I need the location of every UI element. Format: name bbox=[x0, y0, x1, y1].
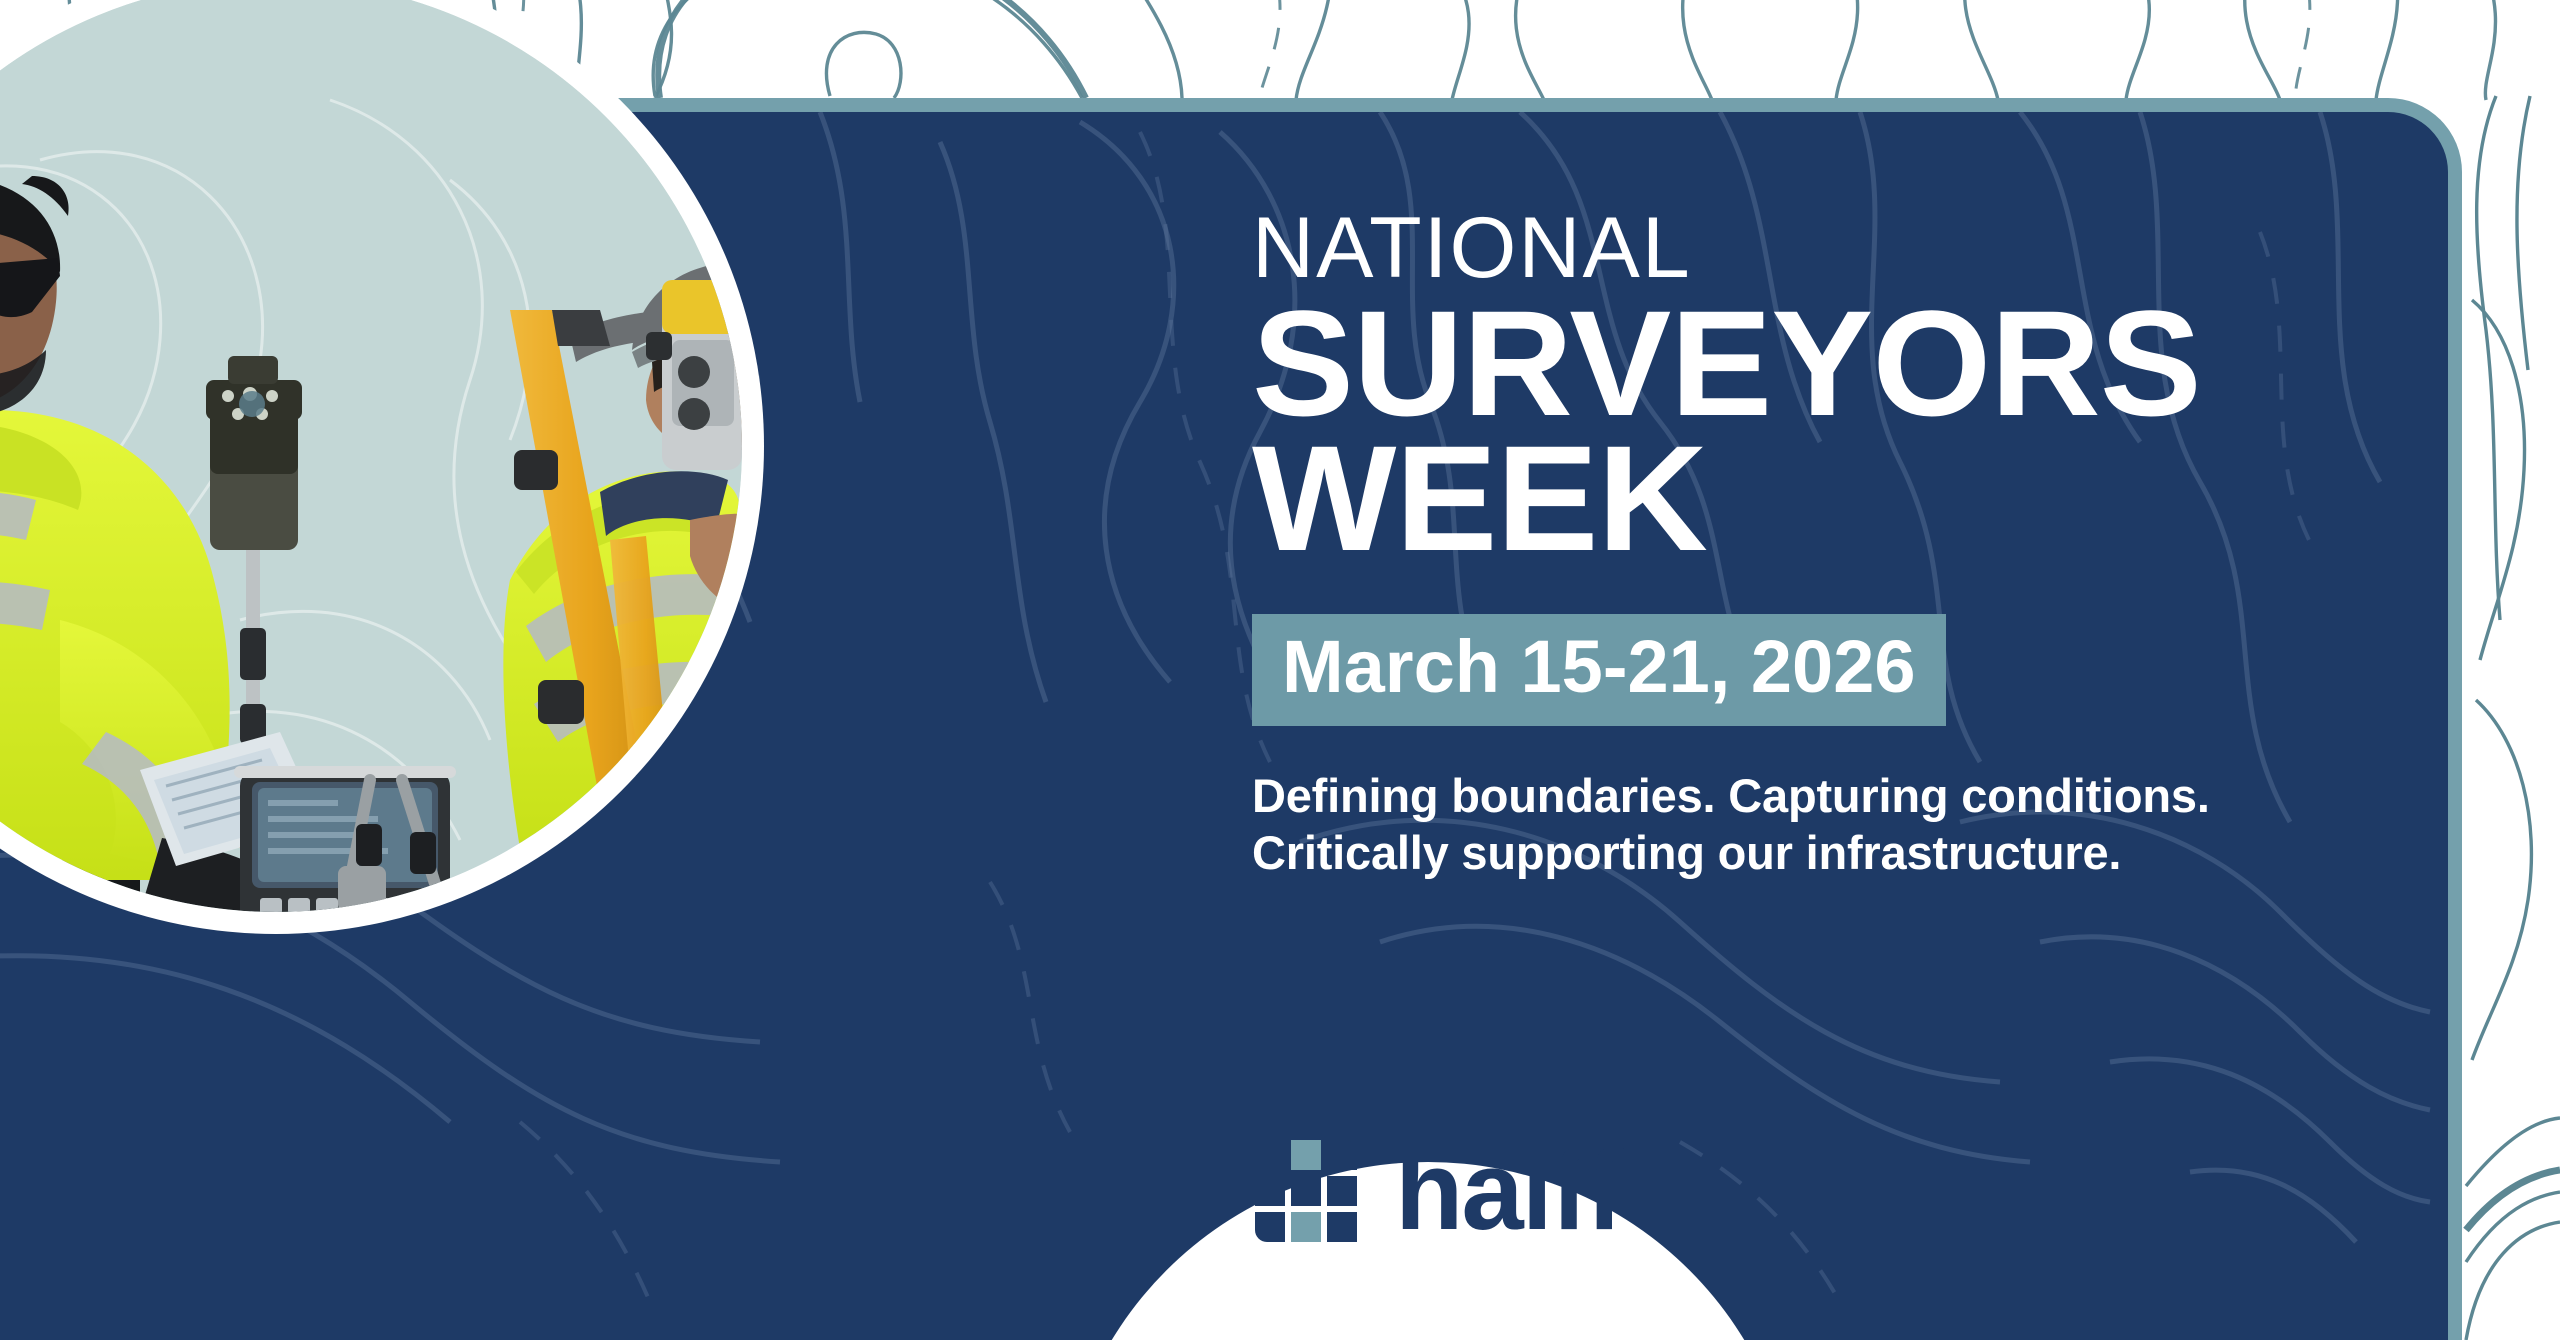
tagline-line-2: Critically supporting our infrastructure… bbox=[1252, 825, 2402, 881]
banner-root: NATIONAL SURVEYORS WEEK March 15-21, 202… bbox=[0, 0, 2560, 1340]
tagline: Defining boundaries. Capturing condition… bbox=[1252, 768, 2402, 881]
grid-cell-7 bbox=[1255, 1212, 1285, 1242]
halff-wordmark: halff bbox=[1395, 1146, 1621, 1236]
grid-cell-6 bbox=[1327, 1176, 1357, 1206]
surveyors-photo-circle bbox=[0, 0, 764, 934]
grid-cell-5 bbox=[1291, 1176, 1321, 1206]
grid-cell-9 bbox=[1327, 1212, 1357, 1242]
grid-cell-1 bbox=[1255, 1140, 1285, 1170]
headline: SURVEYORS WEEK bbox=[1252, 296, 2425, 566]
copy-block: NATIONAL SURVEYORS WEEK March 15-21, 202… bbox=[1252, 206, 2402, 881]
grid-cell-2 bbox=[1291, 1140, 1321, 1170]
grid-cell-4 bbox=[1255, 1176, 1285, 1206]
tagline-line-1: Defining boundaries. Capturing condition… bbox=[1252, 769, 2210, 822]
date-badge-label: March 15-21, 2026 bbox=[1282, 630, 1916, 704]
halff-logo: halff bbox=[1255, 1140, 1621, 1242]
date-badge: March 15-21, 2026 bbox=[1252, 614, 1946, 726]
grid-cell-8 bbox=[1291, 1212, 1321, 1242]
halff-grid-mark-icon bbox=[1255, 1140, 1357, 1242]
grid-cell-3 bbox=[1327, 1140, 1357, 1170]
headline-line-2: WEEK bbox=[1252, 431, 2425, 566]
surveyors-photo bbox=[0, 0, 742, 912]
eyebrow-national: NATIONAL bbox=[1252, 206, 2402, 290]
